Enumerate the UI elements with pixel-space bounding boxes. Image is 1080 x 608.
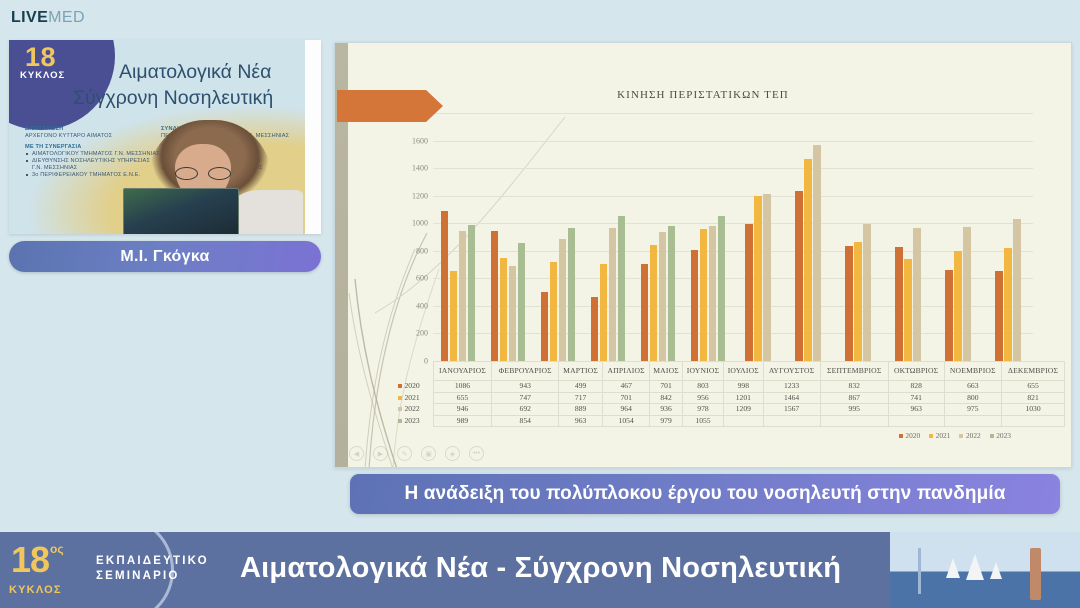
orange-arrow-marker (337, 90, 443, 122)
speaker-name-bar: Μ.Ι. Γκόγκα (9, 241, 321, 272)
bar-group (783, 113, 833, 361)
chart-bar (509, 266, 517, 361)
table-cell: 1030 (1002, 404, 1065, 416)
table-cell: 663 (944, 381, 1002, 393)
chart-bar (763, 194, 771, 361)
legend-item: 2020 (899, 431, 920, 440)
table-cell: 989 (433, 415, 492, 427)
poster-title-line1: Αιματολογικά Νέα (119, 61, 271, 84)
table-cell: 889 (559, 404, 603, 416)
banner-vertical-bar (918, 548, 921, 594)
table-cell: 1086 (433, 381, 492, 393)
table-cell: 692 (492, 404, 559, 416)
player-controls[interactable]: ◀ ▶ ✎ ▣ ◈ ••• (349, 446, 484, 461)
legend-swatch-icon (398, 396, 402, 400)
banner-subtitle-line1: ΕΚΠΑΙΔΕΥΤΙΚΟ (96, 554, 209, 569)
chart-bars (433, 113, 1033, 361)
table-cell: 717 (559, 392, 603, 404)
sailboat-icon (990, 562, 1002, 579)
chart-bar (754, 196, 762, 361)
y-axis-tick: 1600 (412, 136, 428, 145)
chart-bar (804, 159, 812, 361)
legend-swatch-icon (899, 434, 903, 438)
poster-title-line2: Σύγχρονη Νοσηλευτική (73, 87, 273, 110)
table-cell: 467 (603, 381, 650, 393)
chart-bar (591, 297, 599, 361)
chart-bar (550, 262, 558, 361)
chart-bar (718, 216, 726, 361)
table-cell: 963 (888, 404, 944, 416)
y-axis-tick: 600 (416, 274, 428, 283)
table-column-header: ΙΑΝΟΥΑΡΙΟΣ (433, 362, 492, 381)
poster-org-line: ΑΡΧΕΓΟΝΟ ΚΥΤΤΑΡΟ ΑΙΜΑΤΟΣ (25, 133, 175, 139)
chart-bar (609, 228, 617, 361)
table-cell: 1567 (763, 404, 820, 416)
chart-bar (491, 231, 499, 361)
table-column-header: ΑΥΓΟΥΣΤΟΣ (763, 362, 820, 381)
y-axis-tick: 800 (416, 246, 428, 255)
table-cell: 1054 (603, 415, 650, 427)
bar-group (533, 113, 583, 361)
y-axis-tick: 1000 (412, 219, 428, 228)
chart-bar (500, 258, 508, 361)
chart-bar (845, 246, 853, 361)
table-column-header: ΔΕΚΕΜΒΡΙΟΣ (1002, 362, 1065, 381)
bar-group (983, 113, 1033, 361)
chart-title: ΚΙΝΗΣΗ ΠΕΡΙΣΤΑΤΙΚΩΝ ΤΕΠ (335, 89, 1071, 101)
logo-live-text: LIVE (11, 9, 48, 26)
chart-bar (1004, 248, 1012, 361)
y-axis-tick: 400 (416, 301, 428, 310)
table-cell: 1201 (724, 392, 764, 404)
table-cell: 963 (559, 415, 603, 427)
table-header-row: ΙΑΝΟΥΑΡΙΟΣΦΕΒΡΟΥΑΡΙΟΣΜΑΡΤΙΟΣΑΠΡΙΛΙΟΣΜΑΙΟ… (395, 362, 1065, 381)
table-series-label: 2022 (395, 404, 433, 416)
table-cell (820, 415, 888, 427)
y-axis-tick: 200 (416, 329, 428, 338)
table-cell: 1464 (763, 392, 820, 404)
legend-swatch-icon (959, 434, 963, 438)
bar-group (433, 113, 483, 361)
bar-group (633, 113, 683, 361)
poster-coop-heading: ΜΕ ΤΗ ΣΥΝΕΡΓΑΣΙΑ (25, 144, 175, 150)
table-series-label: 2020 (395, 381, 433, 393)
table-cell: 867 (820, 392, 888, 404)
table-cell: 998 (724, 381, 764, 393)
chart-bar (659, 232, 667, 361)
chart-bar (691, 250, 699, 361)
table-cell: 701 (603, 392, 650, 404)
legend-swatch-icon (990, 434, 994, 438)
table-cell: 747 (492, 392, 559, 404)
table-cell: 821 (1002, 392, 1065, 404)
chart-bar (863, 224, 871, 361)
table-cell: 828 (888, 381, 944, 393)
stamp-icon[interactable]: ▣ (421, 446, 436, 461)
chart-bar (441, 211, 449, 361)
chart-bar (600, 264, 608, 361)
bar-group (733, 113, 783, 361)
caption-bar: Η ανάδειξη του πολύπλοκου έργου του νοση… (350, 474, 1060, 514)
chart-bar (618, 216, 626, 361)
table-cell (944, 415, 1002, 427)
banner-subtitle-line2: ΣΕΜΙΝΑΡΙΟ (96, 569, 209, 584)
chart-bar (813, 145, 821, 361)
chart-bar (795, 191, 803, 361)
table-cell: 655 (433, 392, 492, 404)
table-cell: 964 (603, 404, 650, 416)
table-column-header: ΣΕΠΤΕΜΒΡΙΟΣ (820, 362, 888, 381)
chart-bar (700, 229, 708, 361)
table-column-header: ΦΕΒΡΟΥΑΡΙΟΣ (492, 362, 559, 381)
legend-item: 2021 (929, 431, 950, 440)
table-row: 2022946692889964936978120915679959639751… (395, 404, 1065, 416)
chart-bar (954, 251, 962, 361)
table-column-header: ΙΟΥΝΙΟΣ (682, 362, 723, 381)
bar-group (833, 113, 883, 361)
chart-bar (541, 292, 549, 361)
caption-text: Η ανάδειξη του πολύπλοκου έργου του νοση… (405, 483, 1006, 505)
table-cell: 832 (820, 381, 888, 393)
chart-bar (913, 228, 921, 361)
legend-item: 2023 (990, 431, 1011, 440)
chart-legend: 2020202120222023 (899, 431, 1011, 440)
table-column-header: ΜΑΡΤΙΟΣ (559, 362, 603, 381)
bar-group (683, 113, 733, 361)
table-cell: 499 (559, 381, 603, 393)
bar-group (883, 113, 933, 361)
pen-icon[interactable]: ✎ (397, 446, 412, 461)
sailboat-icon (966, 554, 984, 580)
banner-subtitle: ΕΚΠΑΙΔΕΥΤΙΚΟ ΣΕΜΙΝΑΡΙΟ (96, 554, 209, 584)
table-column-header: ΜΑΙΟΣ (650, 362, 683, 381)
chart-bar (709, 226, 717, 361)
y-axis-tick: 1200 (412, 191, 428, 200)
table-cell: 1233 (763, 381, 820, 393)
bar-group (583, 113, 633, 361)
sailboat-icon (946, 558, 960, 578)
chart-bar (459, 231, 467, 361)
table-cell: 800 (944, 392, 1002, 404)
chart-bar (945, 270, 953, 361)
table-series-label: 2023 (395, 415, 433, 427)
chart-bar (854, 242, 862, 361)
legend-swatch-icon (398, 384, 402, 388)
livemed-logo: LIVEMED (11, 8, 85, 28)
chart-data-table: ΙΑΝΟΥΑΡΙΟΣΦΕΒΡΟΥΑΡΙΟΣΜΑΡΤΙΟΣΑΠΡΙΛΙΟΣΜΑΙΟ… (395, 361, 1065, 427)
table-cell (763, 415, 820, 427)
play-icon[interactable]: ▶ (373, 446, 388, 461)
legend-swatch-icon (929, 434, 933, 438)
table-cell: 741 (888, 392, 944, 404)
table-column-header: ΟΚΤΩΒΡΙΟΣ (888, 362, 944, 381)
table-cell: 1055 (682, 415, 723, 427)
poster-cycle-number: 18 (25, 42, 56, 73)
chart-bar (450, 271, 458, 361)
table-cell: 842 (650, 392, 683, 404)
webcam-thumbnail[interactable]: 18 ΚΥΚΛΟΣ Αιματολογικά Νέα Σύγχρονη Νοση… (9, 40, 321, 234)
chart-bar (650, 245, 658, 361)
speaker-name-text: Μ.Ι. Γκόγκα (120, 248, 209, 266)
chart-bar (745, 224, 753, 362)
pier-post (1030, 548, 1041, 600)
banner-cycle-label: ΚΥΚΛΟΣ (9, 584, 62, 596)
table-cell (1002, 415, 1065, 427)
chart-bar (995, 271, 1003, 361)
bar-group (483, 113, 533, 361)
table-column-header: ΝΟΕΜΒΡΙΟΣ (944, 362, 1002, 381)
legend-swatch-icon (398, 407, 402, 411)
table-cell: 854 (492, 415, 559, 427)
prev-icon[interactable]: ◀ (349, 446, 364, 461)
chart-bar (468, 225, 476, 361)
bar-group (933, 113, 983, 361)
chart-bar (1013, 219, 1021, 361)
poster-org-heading: ΔΙΟΡΓΑΝΩΣΗ (25, 126, 175, 132)
legend-item: 2022 (959, 431, 980, 440)
chart-bar (518, 243, 526, 361)
logo-med-text: MED (48, 9, 85, 26)
bottom-banner: 18 ος ΚΥΚΛΟΣ ΕΚΠΑΙΔΕΥΤΙΚΟ ΣΕΜΙΝΑΡΙΟ Αιμα… (0, 532, 1080, 608)
table-cell: 701 (650, 381, 683, 393)
laptop-screen (123, 188, 239, 234)
table-cell: 803 (682, 381, 723, 393)
table-series-label: 2021 (395, 392, 433, 404)
table-cell: 978 (682, 404, 723, 416)
table-cell: 979 (650, 415, 683, 427)
table-cell: 655 (1002, 381, 1065, 393)
chart-bar (641, 264, 649, 361)
table-cell: 995 (820, 404, 888, 416)
table-cell: 956 (682, 392, 723, 404)
chart-bar (904, 259, 912, 361)
banner-cycle-number: 18 (11, 542, 49, 578)
presentation-slide[interactable]: ΚΙΝΗΣΗ ΠΕΡΙΣΤΑΤΙΚΩΝ ΤΕΠ 0200400600800100… (334, 42, 1072, 468)
banner-artwork (890, 532, 1080, 608)
table-cell: 946 (433, 404, 492, 416)
legend-swatch-icon (398, 419, 402, 423)
more-icon[interactable]: ••• (469, 446, 484, 461)
glasses-icon (174, 167, 232, 180)
table-cell: 975 (944, 404, 1002, 416)
y-axis-tick: 1400 (412, 164, 428, 173)
presenter-shoulder (231, 190, 303, 234)
table-cell (724, 415, 764, 427)
chart-bar (559, 239, 567, 361)
table-row: 2021655747717701842956120114648677418008… (395, 392, 1065, 404)
chart-plot-area: 020040060080010001200140016001800 (433, 113, 1033, 361)
table-row: 202398985496310549791055 (395, 415, 1065, 427)
chart-bar (963, 227, 971, 361)
poster-cycle-label: ΚΥΚΛΟΣ (20, 70, 65, 81)
table-cell (888, 415, 944, 427)
pointer-icon[interactable]: ◈ (445, 446, 460, 461)
table-column-header: ΑΠΡΙΛΙΟΣ (603, 362, 650, 381)
table-corner-cell (395, 362, 433, 381)
chart-bar (568, 228, 576, 361)
table-cell: 1209 (724, 404, 764, 416)
chart-bar (668, 226, 676, 361)
table-row: 2020108694349946770180399812338328286636… (395, 381, 1065, 393)
table-body: 2020108694349946770180399812338328286636… (395, 381, 1065, 427)
banner-title: Αιματολογικά Νέα - Σύγχρονη Νοσηλευτική (240, 552, 841, 585)
chart-bar (895, 247, 903, 361)
table-column-header: ΙΟΥΛΙΟΣ (724, 362, 764, 381)
banner-cycle-suffix: ος (50, 542, 64, 556)
table-cell: 936 (650, 404, 683, 416)
table-cell: 943 (492, 381, 559, 393)
app-root: LIVEMED 18 ΚΥΚΛΟΣ Αιματολογικά Νέα Σύγχρ… (0, 0, 1080, 608)
